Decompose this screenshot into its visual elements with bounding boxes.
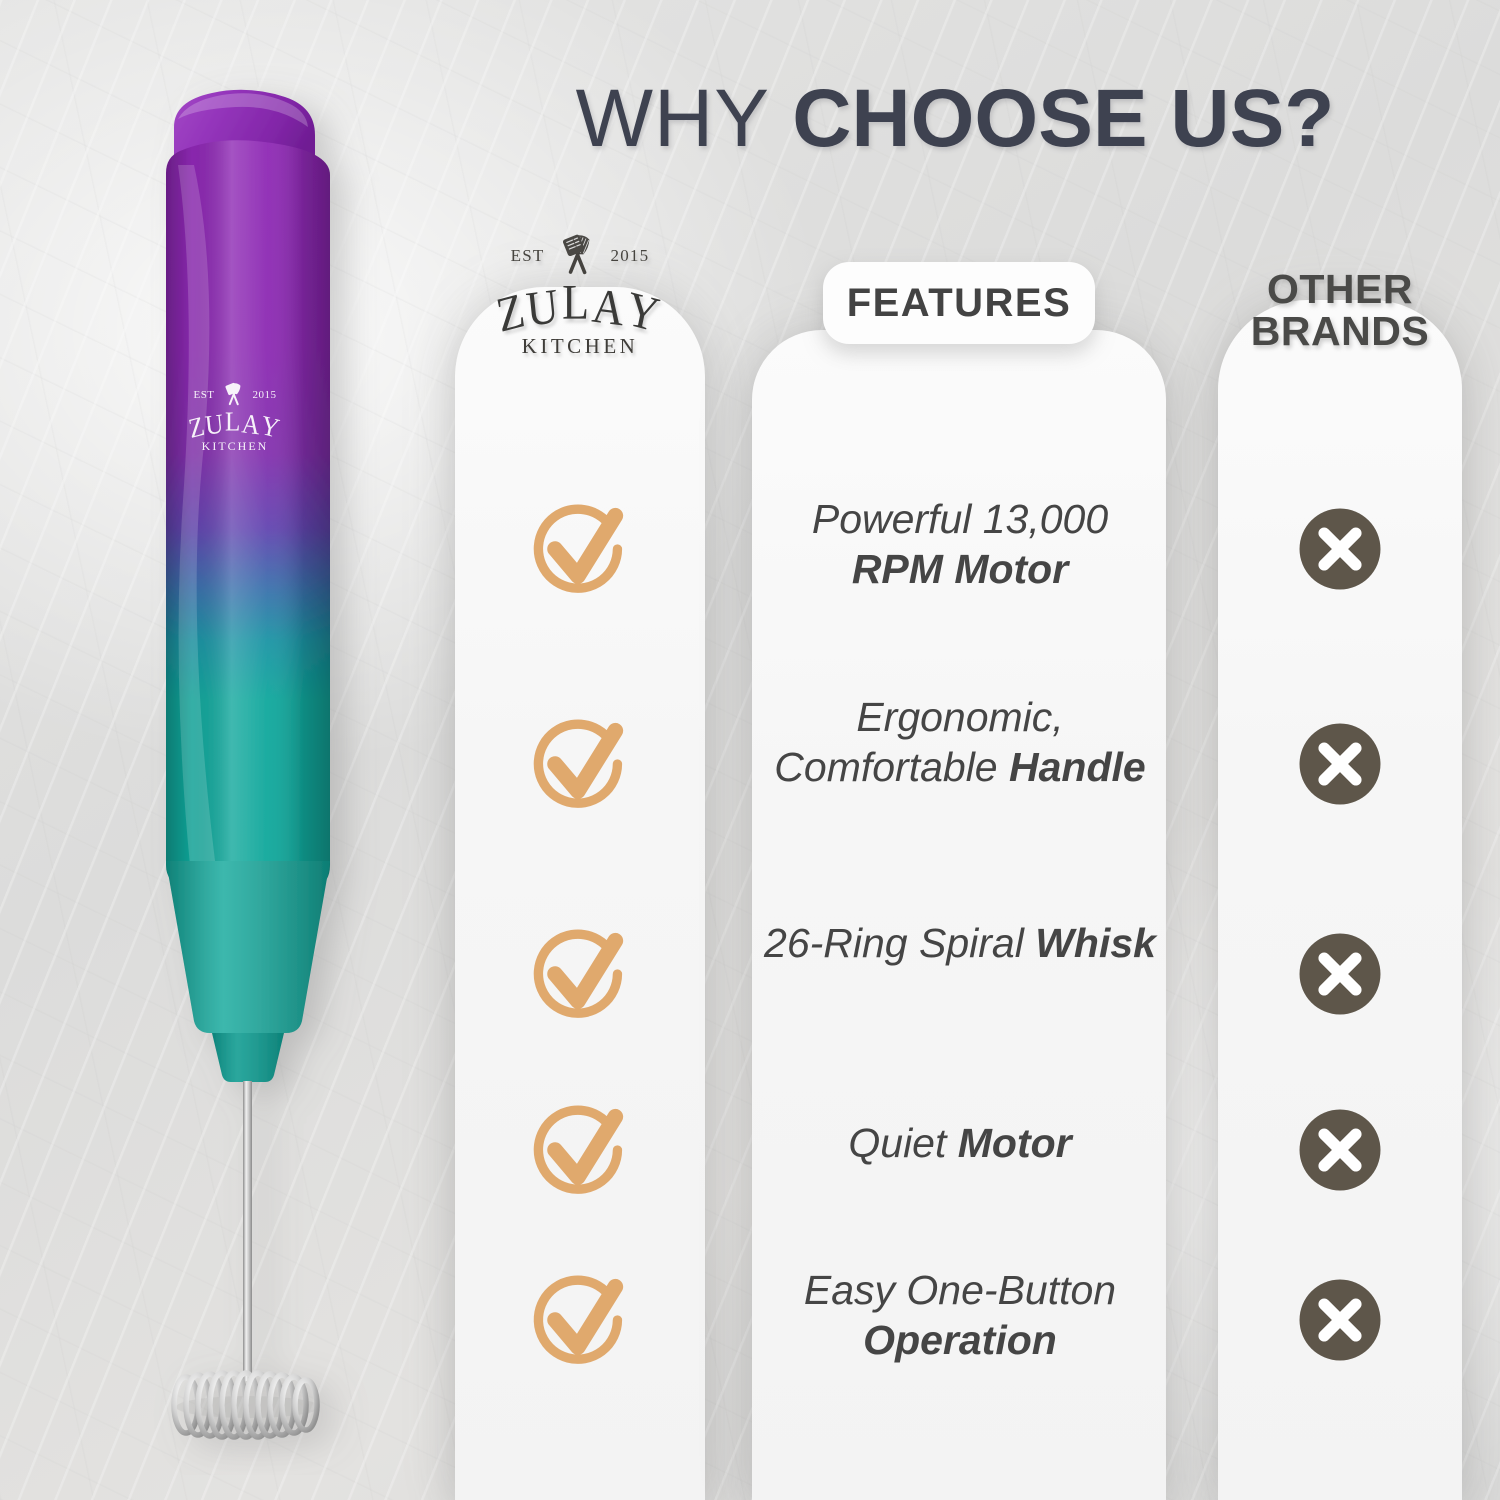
feature-text-plain: Quiet xyxy=(848,1120,957,1166)
other-brands-header: OTHER BRANDS xyxy=(1230,268,1450,352)
zulay-logo: EST xyxy=(470,233,690,359)
whisk-spatula-crossed-icon xyxy=(551,233,605,279)
other-brands-x-cell xyxy=(1280,1276,1400,1364)
other-brands-x-cell xyxy=(1280,720,1400,808)
other-brands-line2: BRANDS xyxy=(1230,310,1450,352)
x-circle-icon xyxy=(1296,505,1384,593)
feature-text-emphasis: Whisk xyxy=(1035,920,1156,966)
product-image-milk-frother: EST 2015 ZULAY KITCHE xyxy=(150,55,380,1475)
feature-text: 26-Ring Spiral Whisk xyxy=(762,918,1158,968)
zulay-check-cell xyxy=(520,1268,640,1372)
check-circle-icon xyxy=(528,1098,632,1202)
feature-text: Powerful 13,000 RPM Motor xyxy=(762,494,1158,594)
x-circle-icon xyxy=(1296,930,1384,1018)
zulay-check-cell xyxy=(520,1098,640,1202)
feature-text-plain: 26-Ring Spiral xyxy=(764,920,1035,966)
features-header-label: FEATURES xyxy=(847,281,1072,326)
check-circle-icon xyxy=(528,1268,632,1372)
feature-text-plain: Easy One-Button xyxy=(804,1267,1116,1313)
zulay-logo-est-row: EST xyxy=(470,233,690,279)
feature-text-emphasis: RPM Motor xyxy=(852,546,1068,592)
check-circle-icon xyxy=(528,922,632,1026)
other-brands-x-cell xyxy=(1280,1106,1400,1194)
feature-text: Ergonomic, Comfortable Handle xyxy=(762,692,1158,792)
features-header-badge: FEATURES xyxy=(823,262,1095,344)
milk-frother-illustration xyxy=(150,55,380,1475)
zulay-logo-brandname: ZULAY xyxy=(470,274,690,331)
infographic-canvas: WHY CHOOSE US? EST xyxy=(0,0,1500,1500)
zulay-logo-est-label: EST xyxy=(511,246,545,266)
page-title: WHY CHOOSE US? xyxy=(455,78,1455,160)
check-circle-icon xyxy=(528,497,632,601)
page-title-light: WHY xyxy=(576,73,793,164)
feature-text: Quiet Motor xyxy=(762,1118,1158,1168)
feature-text-emphasis: Operation xyxy=(863,1317,1057,1363)
other-brands-x-cell xyxy=(1280,505,1400,593)
x-circle-icon xyxy=(1296,720,1384,808)
zulay-check-cell xyxy=(520,497,640,601)
zulay-check-cell xyxy=(520,922,640,1026)
feature-text: Easy One-Button Operation xyxy=(762,1265,1158,1365)
x-circle-icon xyxy=(1296,1276,1384,1364)
zulay-check-cell xyxy=(520,712,640,816)
feature-text-plain: Powerful 13,000 xyxy=(812,496,1108,542)
other-brands-x-cell xyxy=(1280,930,1400,1018)
other-brands-line1: OTHER xyxy=(1230,268,1450,310)
spiral-whisk-coil xyxy=(174,1373,320,1437)
check-circle-icon xyxy=(528,712,632,816)
x-circle-icon xyxy=(1296,1106,1384,1194)
feature-text-emphasis: Handle xyxy=(1009,744,1146,790)
page-title-bold: CHOOSE US? xyxy=(792,73,1334,164)
feature-text-emphasis: Motor xyxy=(958,1120,1072,1166)
zulay-logo-est-year: 2015 xyxy=(611,246,650,266)
